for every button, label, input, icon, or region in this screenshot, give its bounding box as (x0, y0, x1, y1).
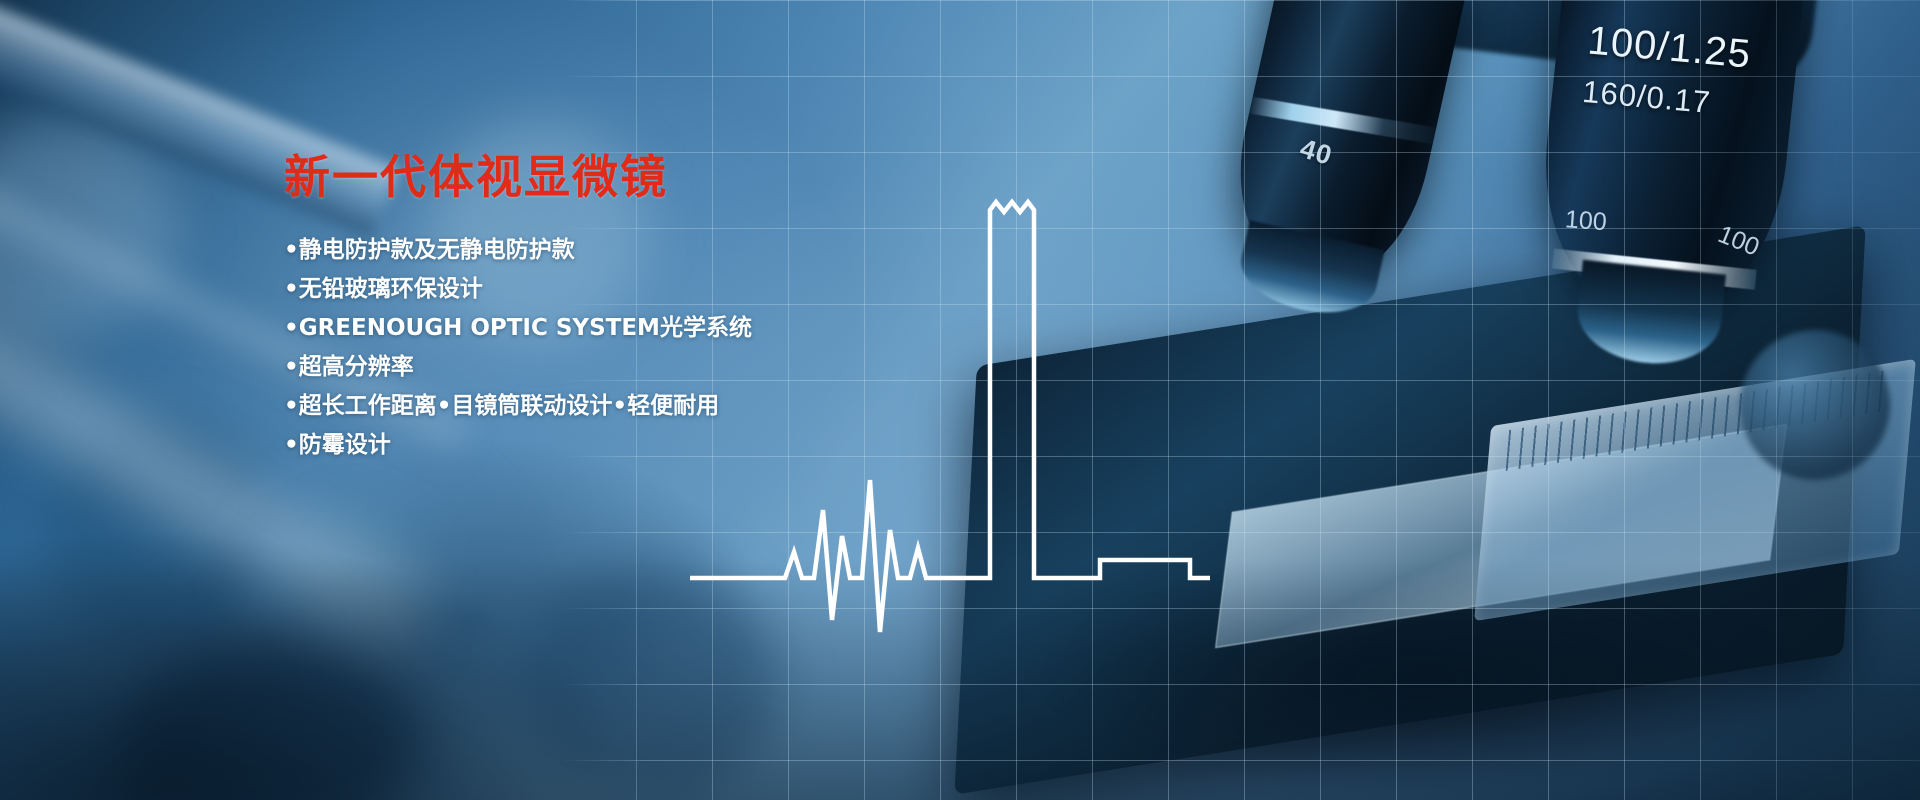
list-item: •超高分辨率 (284, 356, 884, 379)
list-item: •超长工作距离•目镜筒联动设计•轻便耐用 (284, 395, 884, 418)
feature-list: •静电防护款及无静电防护款 •无铅玻璃环保设计 •GREENOUGH OPTIC… (284, 239, 884, 457)
hero-copy: 新一代体视显微镜 •静电防护款及无静电防护款 •无铅玻璃环保设计 •GREENO… (284, 152, 884, 457)
list-item: •静电防护款及无静电防护款 (284, 239, 884, 262)
page-title: 新一代体视显微镜 (284, 152, 884, 203)
list-item: •GREENOUGH OPTIC SYSTEM光学系统 (284, 317, 884, 340)
list-item: •防霉设计 (284, 434, 884, 457)
list-item: •无铅玻璃环保设计 (284, 278, 884, 301)
product-hero-banner: 40 100/1.25 160/0.17 100 100 新一代体视显微镜 •静… (0, 0, 1920, 800)
